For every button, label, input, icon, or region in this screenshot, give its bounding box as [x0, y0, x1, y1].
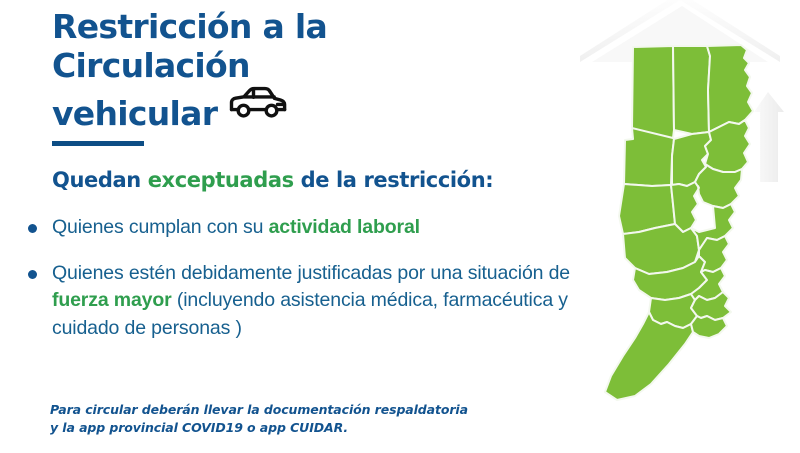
bullet-2-highlight: fuerza mayor	[52, 289, 172, 311]
title-divider	[52, 141, 144, 146]
footer-line-2: y la app provincial COVID19 o app CUIDAR…	[50, 419, 468, 437]
subtitle-part-2: de la restricción:	[294, 168, 494, 192]
footer-note: Para circular deberán llevar la document…	[50, 401, 468, 437]
title-block: Restricción a la Circulación vehicular	[52, 8, 572, 134]
content-column: Restricción a la Circulación vehicular	[0, 0, 600, 453]
bullet-list: Quienes cumplan con su actividad laboral…	[28, 214, 573, 361]
subtitle-part-1: Quedan	[52, 168, 148, 192]
map-container	[595, 36, 795, 436]
title-line-3-row: vehicular	[52, 85, 572, 134]
bullet-dot-icon	[28, 270, 37, 279]
slide-root: Restricción a la Circulación vehicular	[0, 0, 800, 453]
bullet-dot-icon	[28, 224, 37, 233]
title-line-1: Restricción a la	[52, 8, 572, 47]
subtitle-highlight: exceptuadas	[148, 168, 294, 192]
bullet-1-highlight: actividad laboral	[269, 216, 420, 238]
car-icon	[227, 85, 289, 128]
bullet-2-before: Quienes estén debidamente justificadas p…	[52, 262, 570, 284]
list-item: Quienes estén debidamente justificadas p…	[28, 260, 573, 343]
page-title: Restricción a la Circulación vehicular	[52, 8, 572, 134]
bullet-text-1: Quienes cumplan con su actividad laboral	[52, 214, 420, 242]
subtitle: Quedan exceptuadas de la restricción:	[52, 168, 493, 192]
bullet-1-before: Quienes cumplan con su	[52, 216, 269, 238]
santa-fe-province-map	[595, 36, 795, 436]
bullet-text-2: Quienes estén debidamente justificadas p…	[52, 260, 573, 343]
title-line-2: Circulación	[52, 47, 572, 86]
footer-line-1: Para circular deberán llevar la document…	[50, 401, 468, 419]
list-item: Quienes cumplan con su actividad laboral	[28, 214, 573, 242]
title-line-3: vehicular	[52, 95, 217, 134]
